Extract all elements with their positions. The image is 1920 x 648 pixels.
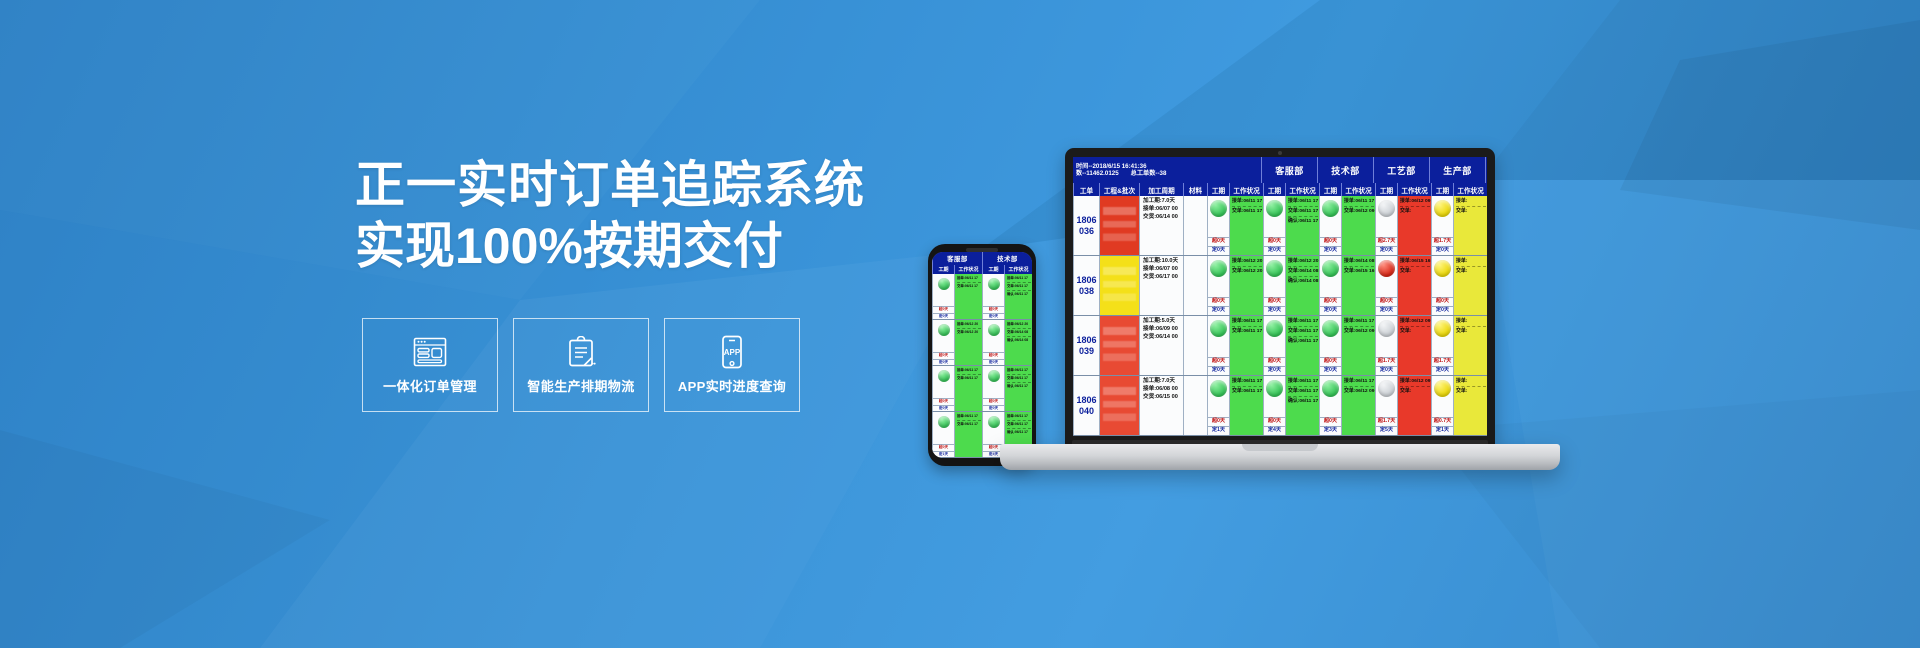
count-label: 数--11462.0125 [1076,170,1119,177]
status-line-0: 接单:06/11 17 [957,414,981,420]
status-lamp-yellow[interactable] [1434,260,1451,277]
overdue-tag: 超0天 [1376,297,1397,306]
headline-line-1: 正一实时订单追踪系统 [355,155,915,216]
cell-work-status-0: 接单:06/11 17交单:06/11 17 [1229,316,1263,375]
feature-card-smart-scheduling[interactable]: 智能生产排期物流 [513,318,649,412]
status-lamp-green[interactable] [1322,320,1339,337]
status-lamp-green[interactable] [938,278,950,290]
delay-tag-group: 超1.7天定0天 [1432,237,1453,255]
cell-schedule-4: 超1.7天定0天 [1431,316,1453,375]
timestamp-label: 时间--2018/6/15 16:41:36 [1076,163,1147,170]
status-lamp-red[interactable] [1378,260,1395,277]
overdue-tag: 超0天 [1264,357,1285,366]
cell-schedule-0: 超0天定0天 [932,320,954,365]
cell-work-status-2: 接单:06/11 17交单:06/12 09 [1341,316,1375,375]
status-line-0: 接单:06/12 20 [1288,258,1318,266]
column-header-技术部-工作状况: 工作状况 [1285,183,1319,196]
app-badge-text: APP [724,348,741,357]
status-lamp-green[interactable] [1266,320,1283,337]
clipboard-schedule-icon [563,335,599,369]
status-line-1: 交单:06/12 20 [957,330,981,336]
delay-tag-group: 超0天定0天 [1320,297,1341,315]
promo-banner: 正一实时订单追踪系统 实现100%按期交付 一体化订单管理 [0,0,1920,648]
mobile-app-icon: APP [714,335,750,369]
status-line-1: 交单:06/14 08 [1288,268,1318,276]
column-header-工程&批次: 工程&批次 [1099,183,1139,196]
column-header-材料: 材料 [1183,183,1207,196]
total-orders-label: 总工单数--38 [1131,170,1167,177]
cell-schedule-1: 超0天定0天 [1263,256,1285,315]
department-header-1: 技术部 [1317,157,1373,183]
status-lamp-green[interactable] [938,370,950,382]
cell-schedule-2: 超0天定3天 [1319,376,1341,435]
cell-project-batch [1099,316,1139,375]
status-line-1: 交单:06/12 09 [1344,208,1374,216]
cell-work-status-1: 接单:06/12 20交单:06/14 08确认:06/14 08 [1285,256,1319,315]
status-line-0: 接单:06/11 17 [957,368,981,374]
cell-work-status-0: 接单:06/12 20交单:06/12 20 [1229,256,1263,315]
delay-tag-group: 超0天定0天 [1320,237,1341,255]
cycle-line-0: 加工期:7.0天 [1143,378,1181,386]
overdue-tag: 超0天 [1208,417,1229,426]
cell-work-status-0: 接单:06/11 17交单:06/11 17 [954,412,982,457]
status-lamp-green[interactable] [1322,200,1339,217]
status-line-1: 交单: [1400,268,1430,276]
column-header-跟单部-工期: 工期 [1431,183,1453,196]
overdue-tag: 超0天 [1320,417,1341,426]
delay-tag-group: 超2.7天定0天 [1376,237,1397,255]
delay-tag-group: 超0天定0天 [1208,297,1229,315]
fixed-days-tag: 定0天 [1376,366,1397,375]
column-header-客服部-工期: 工期 [1207,183,1229,196]
cycle-line-1: 接单:06/07 00 [1143,206,1181,214]
laptop-base-notch [1242,444,1318,451]
cell-schedule-4: 超1.7天定0天 [1431,196,1453,255]
cell-project-batch [1099,376,1139,435]
status-line-1: 交单:06/11 17 [957,422,981,428]
status-lamp-green[interactable] [1210,200,1227,217]
fixed-days-tag: 定0天 [1432,246,1453,255]
work-order-suffix: 039 [1079,346,1094,356]
overdue-tag: 超0天 [1264,417,1285,426]
project-text-redacted [1103,207,1137,244]
cell-schedule-0: 超0天定0天 [1207,196,1229,255]
project-text-redacted [1103,387,1137,424]
feature-card-list: 一体化订单管理 智能生产排期物流 [362,318,800,412]
cell-work-status-1: 接单:06/11 17交单:06/11 17确认:06/11 17 [1285,196,1319,255]
cell-schedule-0: 超0天定0天 [1207,256,1229,315]
delay-tag-group: 超0天定1天 [933,444,954,457]
status-line-0: 接单:06/11 17 [1344,378,1374,386]
status-lamp-green[interactable] [1322,380,1339,397]
cell-project-batch [1099,196,1139,255]
cell-work-order[interactable]: 1806036 [1073,196,1099,255]
overdue-tag: 超1.7天 [1432,357,1453,366]
overdue-tag: 超1.7天 [1376,357,1397,366]
status-line-0: 接单:06/11 17 [957,276,981,282]
status-line-0: 接单:06/11 17 [1232,318,1262,326]
status-lamp-green[interactable] [1266,380,1283,397]
table-row: 1806039加工期:5.0天接单:06/09 00交货:06/14 00超0天… [1073,316,1487,376]
fixed-days-tag: 定0天 [933,313,954,319]
cell-schedule-3: 超1.7天定5天 [1375,376,1397,435]
status-lamp-green[interactable] [938,324,950,336]
delay-tag-group: 超0天定0天 [933,306,954,319]
status-line-1: 交单:06/11 17 [1232,388,1262,396]
cell-work-status-1: 接单:06/11 17交单:06/11 17确认:06/11 17 [1285,316,1319,375]
cell-schedule-2: 超0天定0天 [1319,196,1341,255]
status-line-0: 接单:06/12 09 [1400,198,1430,206]
status-line-2: 确认:06/11 17 [1288,398,1318,406]
delay-tag-group: 超0天定0天 [1264,237,1285,255]
cell-work-status-3: 接单:06/12 09交单: [1397,316,1431,375]
work-order-suffix: 040 [1079,406,1094,416]
meta-row-counts: 数--11462.0125总工单数--38 [1076,170,1258,177]
cycle-line-1: 接单:06/08 00 [1143,386,1181,394]
feature-label: 一体化订单管理 [383,376,477,395]
cycle-line-1: 接单:06/09 00 [1143,326,1181,334]
status-line-0: 接单:06/12 09 [1400,318,1430,326]
status-line-0: 接单:06/11 17 [1344,318,1374,326]
column-header-工艺部-工作状况: 工作状况 [1341,183,1375,196]
column-header-客服部-工期: 工期 [932,265,954,274]
dashboard-meta: 时间--2018/6/15 16:41:36数--11462.0125总工单数-… [1073,157,1261,183]
status-line-2: 确认:06/14 08 [1288,278,1318,286]
cell-material [1183,316,1207,375]
status-lamp-green[interactable] [988,324,1000,336]
delay-tag-group: 超0天定1天 [1208,417,1229,435]
status-lamp-grey[interactable] [1378,380,1395,397]
feature-card-order-management[interactable]: 一体化订单管理 [362,318,498,412]
status-line-0: 接单:06/11 17 [1344,198,1374,206]
cell-processing-cycle: 加工期:5.0天接单:06/09 00交货:06/14 00 [1139,316,1183,375]
status-line-0: 接单:06/11 17 [1288,378,1318,386]
status-lamp-green[interactable] [988,370,1000,382]
cell-schedule-2: 超0天定0天 [1319,256,1341,315]
status-lamp-green[interactable] [988,278,1000,290]
delay-tag-group: 超0天定0天 [1264,357,1285,375]
cell-work-status-0: 接单:06/11 17交单:06/11 17 [954,366,982,411]
work-order-suffix: 038 [1079,286,1094,296]
fixed-days-tag: 定0天 [1264,366,1285,375]
cell-work-status-2: 接单:06/11 17交单:06/12 09 [1341,376,1375,435]
column-header-客服部-工作状况: 工作状况 [1229,183,1263,196]
fixed-days-tag: 定1天 [933,451,954,457]
cell-processing-cycle: 加工期:10.0天接单:06/07 00交货:06/17 00 [1139,256,1183,315]
status-lamp-grey[interactable] [1378,200,1395,217]
status-lamp-green[interactable] [988,416,1000,428]
cell-work-status-2: 接单:06/14 08交单:06/15 16 [1341,256,1375,315]
status-line-0: 接单:06/12 20 [1232,258,1262,266]
project-text-redacted [1103,267,1137,304]
department-header-0: 客服部 [932,252,982,265]
status-line-1: 交单:06/11 17 [957,284,981,290]
order-tracking-dashboard: 时间--2018/6/15 16:41:36数--11462.0125总工单数-… [1073,157,1487,436]
column-header-跟单部-工作状况: 工作状况 [1453,183,1487,196]
cell-schedule-3: 超1.7天定0天 [1375,316,1397,375]
cycle-line-2: 交货:06/14 00 [1143,214,1181,222]
status-line-0: 接单:06/12 20 [957,322,981,328]
department-header-0: 客服部 [1261,157,1317,183]
headline-block: 正一实时订单追踪系统 实现100%按期交付 [355,155,915,277]
fixed-days-tag: 定0天 [1376,246,1397,255]
cell-work-status-0: 接单:06/12 20交单:06/12 20 [954,320,982,365]
status-line-1: 交单:06/11 17 [1232,208,1262,216]
cycle-line-2: 交货:06/17 00 [1143,274,1181,282]
delay-tag-group: 超0天定0天 [1320,357,1341,375]
feature-label: 智能生产排期物流 [527,376,634,395]
delay-tag-group: 超1.7天定0天 [1376,357,1397,375]
status-line-1: 交单:06/11 17 [1288,388,1318,396]
fixed-days-tag: 定0天 [933,405,954,411]
overdue-tag: 超0.7天 [1432,417,1453,426]
column-header-工单: 工单 [1073,183,1099,196]
cell-processing-cycle: 加工期:7.0天接单:06/07 00交货:06/14 00 [1139,196,1183,255]
delay-tag-group: 超0天定0天 [1208,357,1229,375]
work-order-prefix: 1806 [1076,275,1096,285]
fixed-days-tag: 定1天 [1432,426,1453,435]
table-row: 1806040加工期:7.0天接单:06/08 00交货:06/15 00超0天… [1073,376,1487,436]
overdue-tag: 超0天 [1264,297,1285,306]
cell-work-status-4: 接单:交单: [1453,256,1487,315]
overdue-tag: 超0天 [1264,237,1285,246]
fixed-days-tag: 定0天 [1432,366,1453,375]
fixed-days-tag: 定4天 [1264,426,1285,435]
column-header-工艺部-工期: 工期 [1319,183,1341,196]
status-line-0: 接单:06/11 17 [1232,378,1262,386]
delay-tag-group: 超0天定0天 [1432,297,1453,315]
fixed-days-tag: 定0天 [1320,246,1341,255]
cell-material [1183,376,1207,435]
department-header-3: 生产部 [1429,157,1485,183]
status-line-1: 交单: [1400,208,1430,216]
fixed-days-tag: 定5天 [1376,426,1397,435]
work-order-prefix: 1806 [1076,335,1096,345]
work-order-suffix: 036 [1079,226,1094,236]
overdue-tag: 超0天 [1208,237,1229,246]
status-line-0: 接单: [1456,198,1486,206]
status-lamp-grey[interactable] [1378,320,1395,337]
cell-work-order[interactable]: 1806040 [1073,376,1099,435]
cycle-line-0: 加工期:10.0天 [1143,258,1181,266]
cell-work-status-0: 接单:06/11 17交单:06/11 17 [1229,196,1263,255]
status-lamp-green[interactable] [1210,260,1227,277]
column-header-加工周期: 加工周期 [1139,183,1183,196]
department-header-4: 跟单部 [1485,157,1487,183]
status-line-1: 交单:06/11 17 [1288,208,1318,216]
status-lamp-yellow[interactable] [1434,320,1451,337]
fixed-days-tag: 定0天 [1432,306,1453,315]
cell-processing-cycle: 加工期:7.0天接单:06/08 00交货:06/15 00 [1139,376,1183,435]
status-line-1: 交单:06/11 17 [1232,328,1262,336]
cell-schedule-1: 超0天定0天 [1263,196,1285,255]
status-line-0: 接单: [1456,318,1486,326]
work-order-prefix: 1806 [1076,395,1096,405]
status-lamp-green[interactable] [1266,260,1283,277]
cell-work-status-1: 接单:06/11 17交单:06/11 17确认:06/11 17 [1285,376,1319,435]
status-line-1: 交单:06/11 17 [1288,328,1318,336]
feature-card-app-tracking[interactable]: APP APP实时进度查询 [664,318,800,412]
cell-work-status-0: 接单:06/11 17交单:06/11 17 [1229,376,1263,435]
cycle-line-0: 加工期:5.0天 [1143,318,1181,326]
delay-tag-group: 超1.7天定5天 [1376,417,1397,435]
laptop-lid: 时间--2018/6/15 16:41:36数--11462.0125总工单数-… [1065,148,1495,448]
cell-project-batch [1099,256,1139,315]
overdue-tag: 超0天 [1208,357,1229,366]
status-line-0: 接单:06/11 17 [1288,318,1318,326]
headline-line-2: 实现100%按期交付 [355,216,915,277]
cell-schedule-4: 超0.7天定1天 [1431,376,1453,435]
cell-work-status-3: 接单:06/12 09交单: [1397,196,1431,255]
overdue-tag: 超1.7天 [1376,417,1397,426]
work-order-prefix: 1806 [1076,215,1096,225]
status-line-1: 交单: [1456,208,1486,216]
project-text-redacted [1103,327,1137,364]
column-header-生产部-工作状况: 工作状况 [1397,183,1431,196]
cell-schedule-0: 超0天定0天 [932,274,954,319]
overdue-tag: 超0天 [1208,297,1229,306]
dashboard-topbar: 时间--2018/6/15 16:41:36数--11462.0125总工单数-… [1073,157,1487,183]
dashboard-body: 1806036加工期:7.0天接单:06/07 00交货:06/14 00超0天… [1073,196,1487,436]
meta-row-time: 时间--2018/6/15 16:41:36 [1076,163,1258,170]
status-line-0: 接单:06/11 17 [1232,198,1262,206]
laptop-base [1000,444,1560,470]
status-line-1: 交单:06/11 17 [957,376,981,382]
delay-tag-group: 超0天定0天 [933,398,954,411]
overdue-tag: 超1.7天 [1432,237,1453,246]
status-line-1: 交单: [1400,388,1430,396]
delay-tag-group: 超0天定0天 [1376,297,1397,315]
table-row: 1806036加工期:7.0天接单:06/07 00交货:06/14 00超0天… [1073,196,1487,256]
status-lamp-green[interactable] [1266,200,1283,217]
overdue-tag: 超2.7天 [1376,237,1397,246]
cycle-line-2: 交货:06/15 00 [1143,394,1181,402]
dashboard-layout-icon [412,335,448,369]
status-lamp-green[interactable] [1210,380,1227,397]
fixed-days-tag: 定0天 [1264,306,1285,315]
laptop-screen: 时间--2018/6/15 16:41:36数--11462.0125总工单数-… [1073,157,1487,436]
fixed-days-tag: 定0天 [1208,306,1229,315]
cell-schedule-1: 超0天定0天 [1263,316,1285,375]
cell-schedule-3: 超2.7天定0天 [1375,196,1397,255]
cell-work-status-3: 接单:06/12 09交单: [1397,376,1431,435]
status-lamp-yellow[interactable] [1434,200,1451,217]
cell-work-status-0: 接单:06/11 17交单:06/11 17 [954,274,982,319]
status-line-1: 交单:06/12 09 [1344,328,1374,336]
webcam-icon [1278,151,1282,155]
status-lamp-green[interactable] [1322,260,1339,277]
status-line-0: 接单:06/11 17 [1288,198,1318,206]
cell-work-order[interactable]: 1806038 [1073,256,1099,315]
delay-tag-group: 超0天定3天 [1320,417,1341,435]
fixed-days-tag: 定0天 [1208,246,1229,255]
status-line-0: 接单: [1456,378,1486,386]
cell-work-status-2: 接单:06/11 17交单:06/12 09 [1341,196,1375,255]
cell-work-status-3: 接单:06/15 16交单: [1397,256,1431,315]
status-lamp-green[interactable] [1210,320,1227,337]
status-line-1: 交单: [1400,328,1430,336]
fixed-days-tag: 定0天 [1376,306,1397,315]
status-lamp-green[interactable] [938,416,950,428]
delay-tag-group: 超0天定0天 [1264,297,1285,315]
status-line-2: 确认:06/11 17 [1288,338,1318,346]
status-line-0: 接单: [1456,258,1486,266]
fixed-days-tag: 定3天 [1320,426,1341,435]
delay-tag-group: 超0天定0天 [1208,237,1229,255]
cell-material [1183,196,1207,255]
status-line-1: 交单: [1456,268,1486,276]
cell-material [1183,256,1207,315]
status-line-1: 交单:06/12 20 [1232,268,1262,276]
cycle-line-0: 加工期:7.0天 [1143,198,1181,206]
fixed-days-tag: 定0天 [1320,306,1341,315]
cell-schedule-1: 超0天定4天 [1263,376,1285,435]
dashboard-column-headers: 工单工程&批次加工周期材料工期工作状况工期工作状况工期工作状况工期工作状况工期工… [1073,183,1487,196]
status-line-2: 确认:06/11 17 [1288,218,1318,226]
cell-schedule-3: 超0天定0天 [1375,256,1397,315]
cycle-line-1: 接单:06/07 00 [1143,266,1181,274]
cell-schedule-4: 超0天定0天 [1431,256,1453,315]
cell-work-status-4: 接单:交单: [1453,316,1487,375]
cell-schedule-0: 超0天定0天 [932,366,954,411]
fixed-days-tag: 定0天 [933,359,954,365]
delay-tag-group: 超0天定0天 [933,352,954,365]
department-header-2: 工艺部 [1373,157,1429,183]
overdue-tag: 超0天 [1320,297,1341,306]
fixed-days-tag: 定0天 [1208,366,1229,375]
delay-tag-group: 超0天定4天 [1264,417,1285,435]
column-header-技术部-工期: 工期 [1263,183,1285,196]
overdue-tag: 超0天 [1320,237,1341,246]
fixed-days-tag: 定1天 [1208,426,1229,435]
cycle-line-2: 交货:06/14 00 [1143,334,1181,342]
status-line-0: 接单:06/14 08 [1344,258,1374,266]
column-header-客服部-工作状况: 工作状况 [954,265,982,274]
status-line-0: 接单:06/15 16 [1400,258,1430,266]
cell-schedule-0: 超0天定1天 [932,412,954,457]
status-line-1: 交单:06/12 09 [1344,388,1374,396]
delay-tag-group: 超0.7天定1天 [1432,417,1453,435]
status-line-1: 交单: [1456,388,1486,396]
laptop-mockup: 时间--2018/6/15 16:41:36数--11462.0125总工单数-… [1000,148,1560,508]
table-row: 1806038加工期:10.0天接单:06/07 00交货:06/17 00超0… [1073,256,1487,316]
cell-schedule-0: 超0天定0天 [1207,316,1229,375]
fixed-days-tag: 定0天 [1320,366,1341,375]
delay-tag-group: 超1.7天定0天 [1432,357,1453,375]
status-lamp-yellow[interactable] [1434,380,1451,397]
cell-schedule-2: 超0天定0天 [1319,316,1341,375]
status-line-1: 交单: [1456,328,1486,336]
column-header-生产部-工期: 工期 [1375,183,1397,196]
status-line-1: 交单:06/15 16 [1344,268,1374,276]
cell-work-order[interactable]: 1806039 [1073,316,1099,375]
cell-schedule-0: 超0天定1天 [1207,376,1229,435]
overdue-tag: 超0天 [1432,297,1453,306]
cell-work-status-4: 接单:交单: [1453,196,1487,255]
cell-work-status-4: 接单:交单: [1453,376,1487,435]
status-line-0: 接单:06/12 09 [1400,378,1430,386]
feature-label: APP实时进度查询 [678,376,786,395]
fixed-days-tag: 定0天 [1264,246,1285,255]
overdue-tag: 超0天 [1320,357,1341,366]
